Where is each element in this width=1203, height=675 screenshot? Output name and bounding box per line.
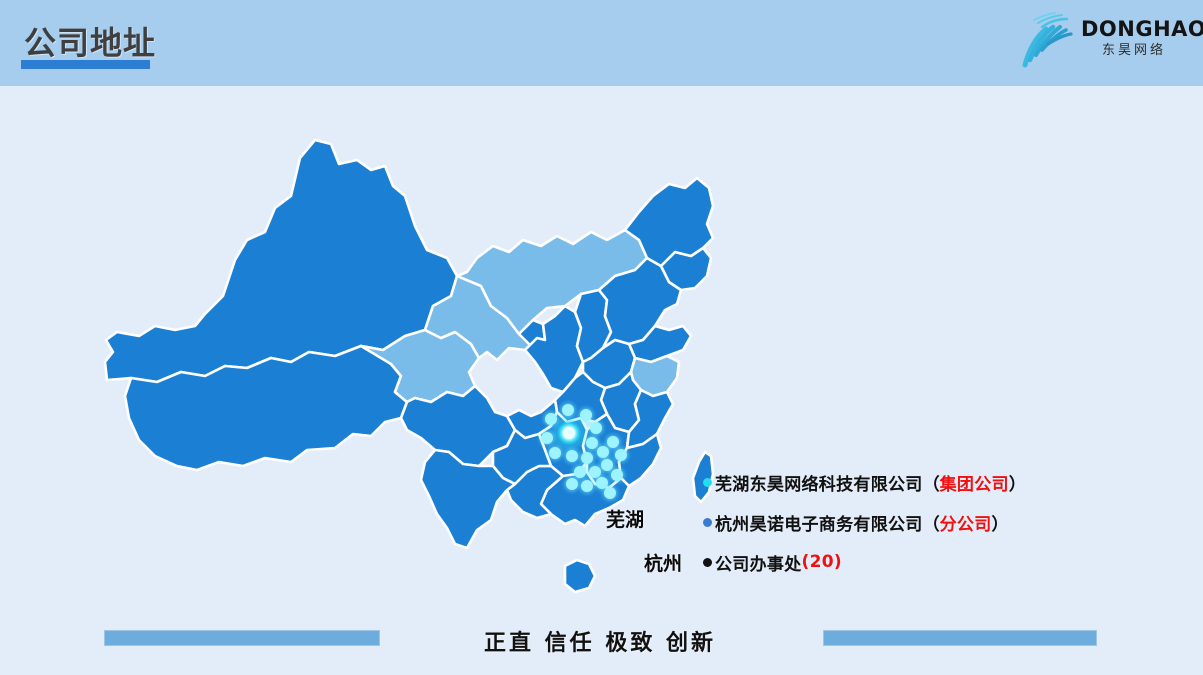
legend-item-offices[interactable]: 公司办事处 (20) — [703, 542, 1123, 582]
feather-fan-icon — [1015, 10, 1077, 70]
logo-subtitle: 东昊网络 — [1081, 42, 1187, 60]
marker-office[interactable] — [549, 447, 561, 459]
legend-bullet-icon — [703, 518, 712, 527]
marker-office[interactable] — [562, 404, 574, 416]
marker-office[interactable] — [566, 450, 578, 462]
marker-office[interactable] — [615, 449, 627, 461]
marker-office[interactable] — [604, 487, 616, 499]
legend-paren-open: （ — [923, 470, 940, 495]
footer-bar-left — [104, 630, 380, 646]
marker-office[interactable] — [581, 452, 593, 464]
title-underline — [21, 60, 150, 69]
map-label-hangzhou: 杭州 — [644, 549, 682, 576]
china-map-svg — [95, 100, 715, 610]
logo-text-block: DONGHAO 东昊网络 — [1081, 18, 1187, 60]
page-title: 公司地址 — [24, 18, 156, 64]
marker-office[interactable] — [545, 413, 557, 425]
legend-label: 芜湖东昊网络科技有限公司 — [715, 470, 923, 495]
legend-tag: 集团公司 — [940, 470, 1009, 495]
china-map: 芜湖 杭州 — [95, 100, 715, 610]
footer-bar-right — [823, 630, 1097, 646]
legend-bullet-icon — [703, 478, 712, 487]
legend-paren-close: ） — [992, 510, 1009, 535]
marker-office[interactable] — [607, 436, 619, 448]
legend-bullet-icon — [703, 558, 712, 567]
marker-office[interactable] — [597, 446, 609, 458]
marker-office[interactable] — [601, 459, 613, 471]
legend-item-branch-company[interactable]: 杭州昊诺电子商务有限公司 （ 分公司 ） — [703, 502, 1123, 542]
legend-tag: 分公司 — [940, 510, 992, 535]
marker-office[interactable] — [580, 409, 592, 421]
map-label-wuhu: 芜湖 — [606, 505, 644, 532]
marker-office[interactable] — [586, 437, 598, 449]
legend: 芜湖东昊网络科技有限公司 （ 集团公司 ） 杭州昊诺电子商务有限公司 （ 分公司… — [703, 462, 1123, 582]
footer-slogan: 正直 信任 极致 创新 — [455, 625, 745, 657]
marker-office[interactable] — [581, 480, 593, 492]
legend-paren-close: ） — [1009, 470, 1026, 495]
marker-office[interactable] — [566, 478, 578, 490]
marker-office[interactable] — [590, 422, 602, 434]
legend-tag: (20) — [802, 552, 842, 572]
legend-label: 公司办事处 — [715, 550, 802, 575]
province-hainan — [565, 560, 595, 592]
logo-name: DONGHAO — [1081, 18, 1187, 41]
marker-office[interactable] — [541, 432, 553, 444]
marker-headquarters-wuhu[interactable] — [556, 420, 582, 446]
legend-paren-open: （ — [923, 510, 940, 535]
legend-item-group-company[interactable]: 芜湖东昊网络科技有限公司 （ 集团公司 ） — [703, 462, 1123, 502]
marker-office[interactable] — [589, 466, 601, 478]
company-logo: DONGHAO 东昊网络 — [1015, 8, 1187, 74]
marker-office[interactable] — [611, 469, 623, 481]
slide-root: 公司地址 DONGHAO 东昊网络 — [0, 0, 1203, 675]
legend-label: 杭州昊诺电子商务有限公司 — [715, 510, 923, 535]
marker-office[interactable] — [574, 466, 586, 478]
